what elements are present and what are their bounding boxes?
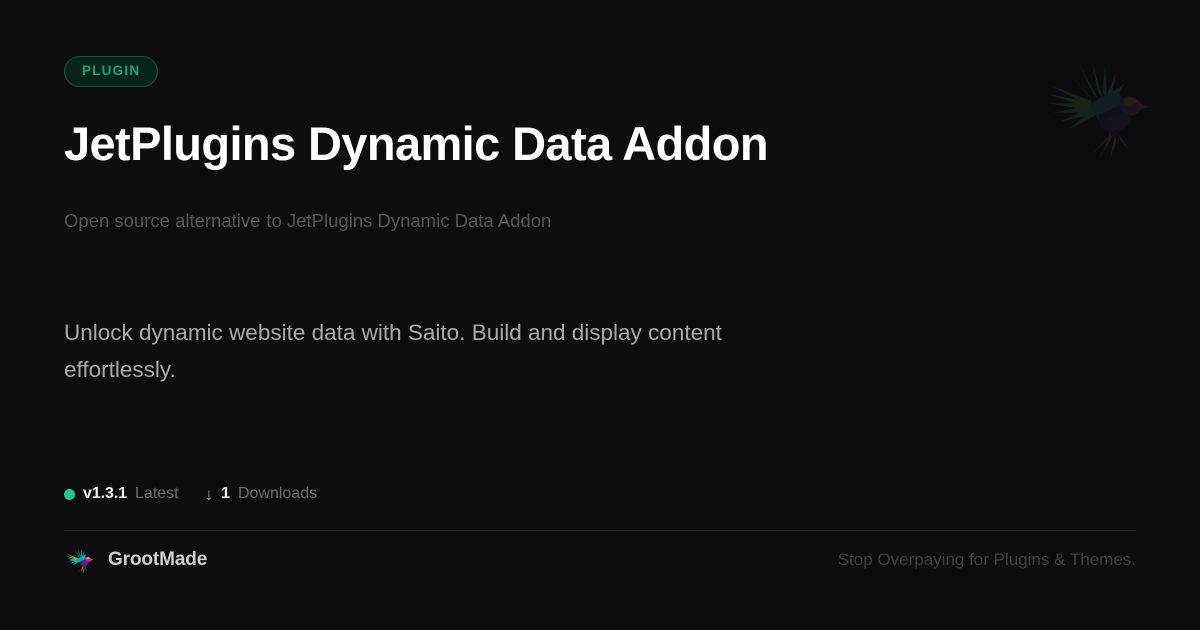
downloads-count: 1 <box>221 485 230 503</box>
page-description: Unlock dynamic website data with Saito. … <box>64 315 834 388</box>
brand-name: GrootMade <box>108 549 207 571</box>
brand: GrootMade <box>64 545 207 575</box>
status-badge: PLUGIN <box>64 56 158 87</box>
page-title: JetPlugins Dynamic Data Addon <box>64 118 1136 171</box>
version-group: v1.3.1 Latest <box>64 485 179 503</box>
badge-row: PLUGIN <box>64 0 1136 87</box>
meta-row: v1.3.1 Latest ↓ 1 Downloads <box>64 485 317 503</box>
downloads-group: ↓ 1 Downloads <box>205 485 317 503</box>
subtitle-lead: Open source alternative <box>64 210 260 231</box>
version-value: v1.3.1 <box>83 485 127 503</box>
subtitle-rest: to JetPlugins Dynamic Data Addon <box>266 210 551 231</box>
download-arrow-icon: ↓ <box>205 486 214 503</box>
downloads-label: Downloads <box>238 485 317 503</box>
footer-tagline: Stop Overpaying for Plugins & Themes. <box>838 550 1136 570</box>
footer: GrootMade Stop Overpaying for Plugins & … <box>64 545 1136 575</box>
bird-logo-icon <box>64 545 94 575</box>
plugin-social-card: PLUGIN JetPlugins Dynamic Data Addon Ope… <box>0 0 1200 630</box>
footer-divider <box>64 530 1136 531</box>
version-label: Latest <box>135 485 179 503</box>
status-dot-icon <box>64 489 75 500</box>
bird-logo-icon <box>1040 52 1152 164</box>
page-subtitle: Open source alternativeto JetPlugins Dyn… <box>64 209 1136 233</box>
